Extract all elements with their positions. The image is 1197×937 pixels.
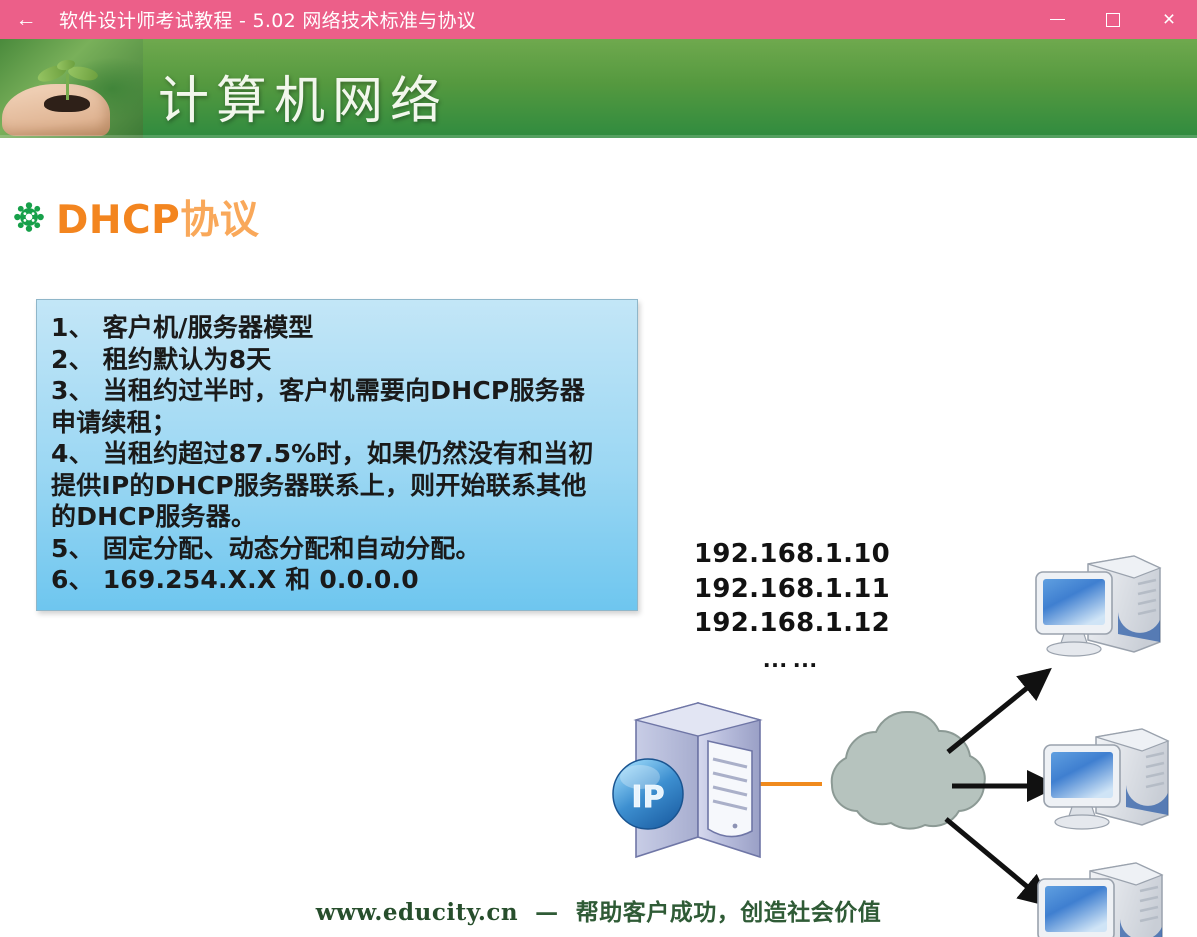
flower-gear-icon	[14, 202, 44, 232]
banner-title: 计算机网络	[158, 59, 448, 133]
window-title: 软件设计师考试教程 - 5.02 网络技术标准与协议	[59, 6, 476, 33]
close-icon: ×	[1163, 9, 1175, 30]
textbox-line: 申请续租；	[51, 407, 623, 439]
textbox-line: 3、 当租约过半时，客户机需要向DHCP服务器	[51, 375, 623, 407]
window-titlebar: ← 软件设计师考试教程 - 5.02 网络技术标准与协议 ×	[0, 0, 1197, 39]
minimize-icon	[1050, 19, 1065, 20]
section-title-cn: 协议	[180, 198, 259, 243]
section-title-en: DHCP	[56, 198, 180, 243]
network-cloud-icon	[832, 712, 985, 829]
client-pc-1-icon	[1036, 556, 1160, 656]
content-textbox: 1、 客户机/服务器模型 2、 租约默认为8天 3、 当租约过半时，客户机需要向…	[36, 299, 638, 611]
textbox-line: 1、 客户机/服务器模型	[51, 312, 623, 344]
page-title: DHCP协议	[56, 189, 259, 245]
back-button[interactable]: ←	[0, 0, 52, 39]
slide-footer: www.educity.cn — 帮助客户成功，创造社会价值	[0, 893, 1197, 927]
footer-dash: —	[535, 899, 559, 926]
arrow-to-client-3	[946, 819, 1048, 904]
textbox-line: 的DHCP服务器。	[51, 501, 623, 533]
footer-url: www.educity.cn	[316, 899, 518, 926]
ip-badge-label: IP	[631, 780, 664, 815]
arrow-to-client-1	[948, 671, 1048, 752]
footer-slogan: 帮助客户成功，创造社会价值	[576, 899, 882, 926]
footer-line: www.educity.cn — 帮助客户成功，创造社会价值	[316, 899, 881, 926]
stem-shape	[66, 74, 69, 100]
dhcp-server-icon: IP	[613, 703, 760, 857]
back-arrow-icon: ←	[16, 9, 37, 30]
client-pc-2-icon	[1044, 729, 1168, 829]
slide-banner: 计算机网络	[0, 39, 1197, 138]
textbox-line: 6、 169.254.X.X 和 0.0.0.0	[51, 564, 623, 596]
seedling-photo-icon	[0, 39, 143, 138]
minimize-button[interactable]	[1029, 0, 1085, 39]
window-controls: ×	[1029, 0, 1197, 39]
section-heading: DHCP协议	[14, 189, 259, 245]
diagram-graphics: IP	[600, 479, 1197, 937]
network-diagram: 192.168.1.10 192.168.1.11 192.168.1.12 ……	[600, 479, 1197, 937]
close-button[interactable]: ×	[1141, 0, 1197, 39]
textbox-line: 提供IP的DHCP服务器联系上，则开始联系其他	[51, 470, 623, 502]
maximize-button[interactable]	[1085, 0, 1141, 39]
slide-canvas: 计算机网络	[0, 39, 1197, 937]
textbox-line: 5、 固定分配、动态分配和自动分配。	[51, 533, 623, 565]
maximize-icon	[1106, 13, 1120, 27]
textbox-line: 2、 租约默认为8天	[51, 344, 623, 376]
textbox-line: 4、 当租约超过87.5%时，如果仍然没有和当初	[51, 438, 623, 470]
